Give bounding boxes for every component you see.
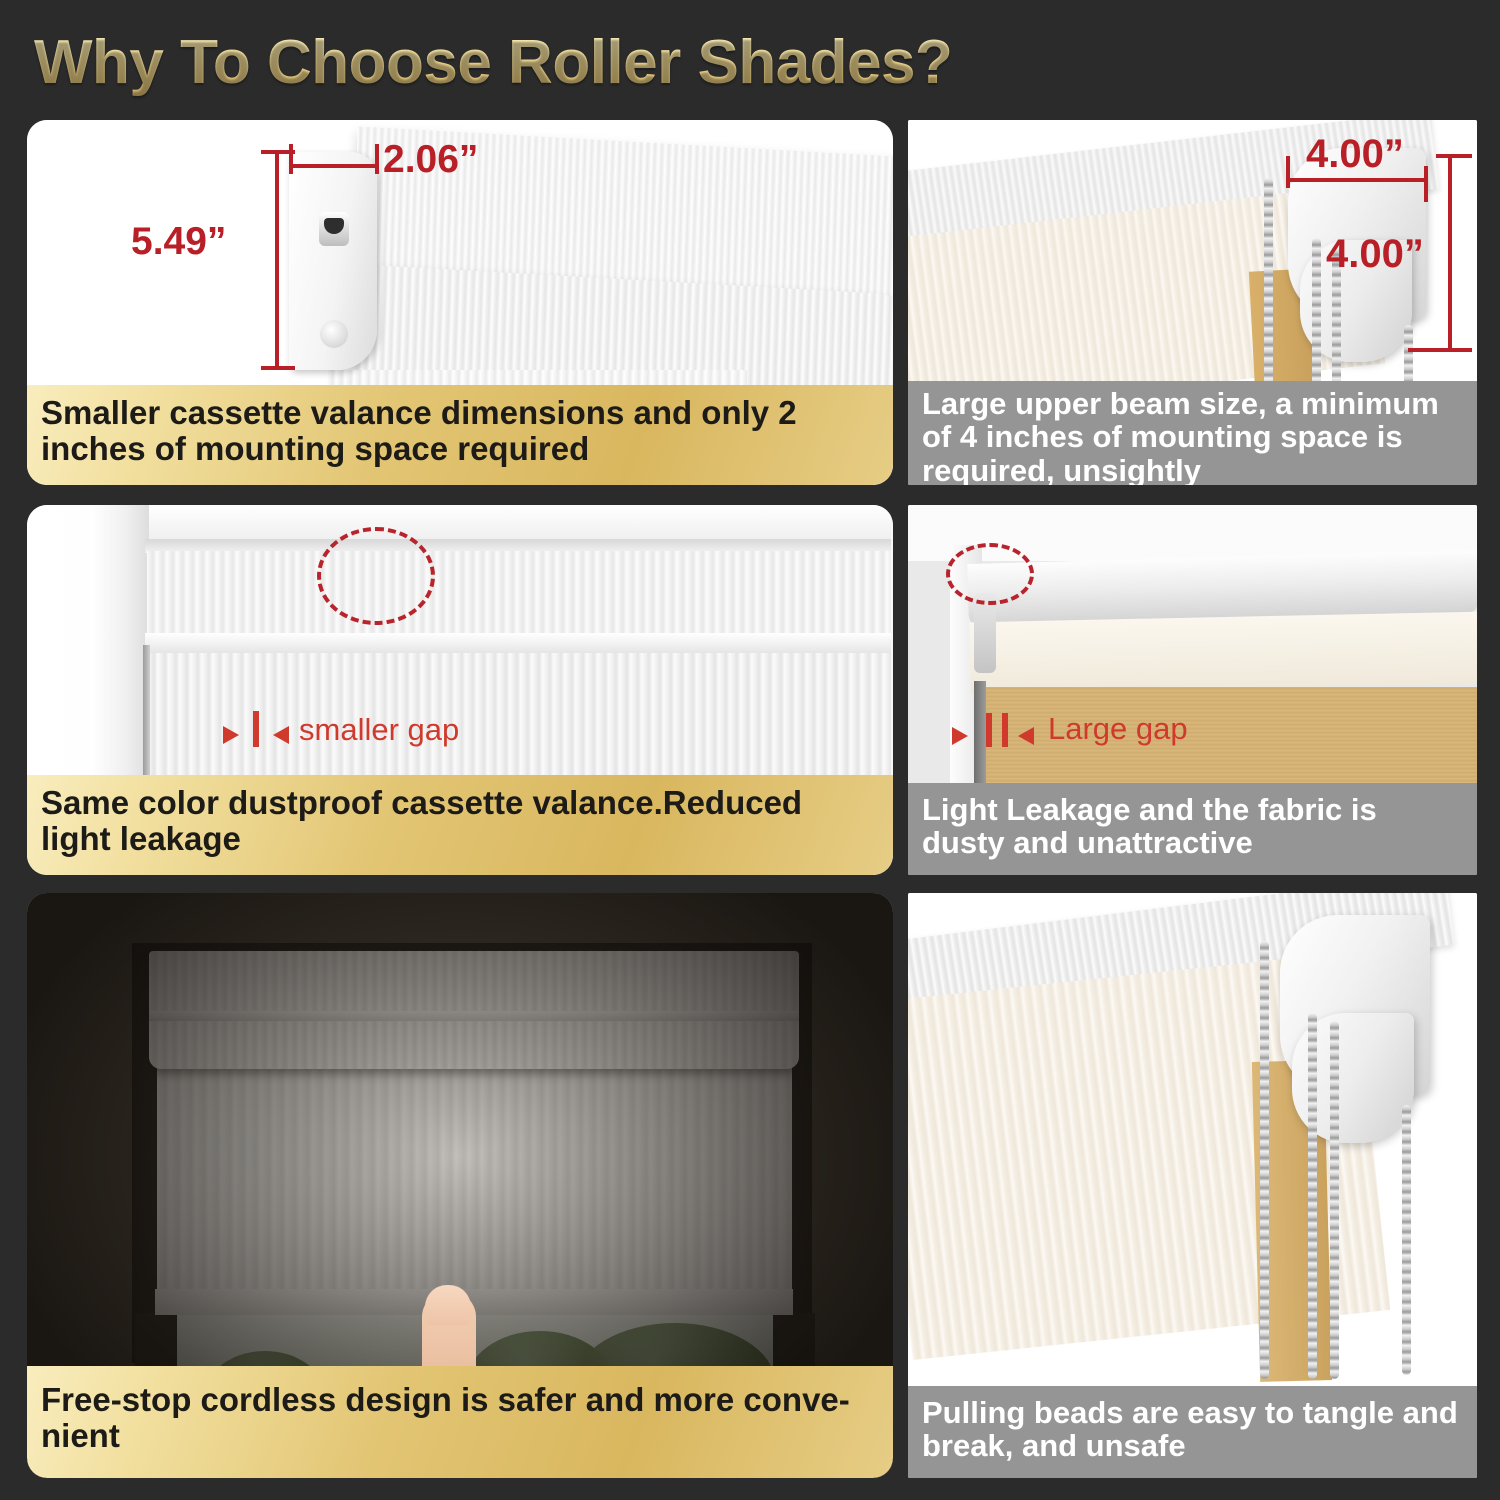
dimension-tick-right [375, 144, 379, 174]
valance-knob [319, 212, 349, 246]
caption-light-leakage: Light Leakage and the fabric is dusty an… [908, 783, 1477, 875]
bead-chain-1 [1260, 941, 1269, 1379]
page-title: Why To Choose Roller Shades? [34, 18, 1074, 106]
highlight-circle-icon [317, 527, 435, 625]
valance-screw [320, 320, 348, 348]
gap-marker-bar-2 [1002, 713, 1008, 747]
panel-smaller-cassette: 2.06” 5.49” Smaller cassette valance dim… [27, 120, 893, 485]
roller-clip [974, 593, 996, 673]
gap-arrow-right-icon [223, 726, 239, 744]
dimension-label-width: 4.00” [1306, 132, 1404, 177]
shade-fabric-cream [969, 612, 1477, 695]
gap-label-large: Large gap [1048, 711, 1188, 747]
panel-pulling-beads: Pulling beads are easy to tangle and bre… [908, 893, 1477, 1478]
edge-gap-line [143, 645, 150, 785]
window-frame-top [91, 505, 891, 543]
panel-large-upper-beam: 4.00” 4.00” Large upper beam size, a min… [908, 120, 1477, 485]
dimension-line-height [275, 152, 279, 370]
dimension-tick-top [1436, 154, 1472, 158]
dimension-tick-left [289, 144, 293, 174]
caption-free-stop-cordless: Free-stop cordless design is safer and m… [27, 1366, 893, 1478]
caption-smaller-cassette: Smaller cassette valance dimensions and … [27, 385, 893, 485]
dimension-label-height: 4.00” [1326, 232, 1424, 277]
dimension-tick-left [1286, 156, 1290, 188]
gap-arrow-right-icon [952, 727, 968, 745]
dimension-tick-bottom [261, 366, 295, 370]
highlight-circle-icon [946, 543, 1034, 605]
dimension-line-width [291, 164, 377, 168]
window-frame-left [91, 505, 149, 805]
dimension-label-width: 2.06” [383, 138, 478, 182]
shade-fabric-upper [147, 551, 891, 639]
shade-mid-rail [145, 633, 891, 655]
gap-arrow-left-icon [273, 726, 289, 744]
dimension-line-width [1288, 178, 1428, 182]
panel-light-leakage: Large gap Light Leakage and the fabric i… [908, 505, 1477, 875]
gap-arrow-left-icon [1018, 727, 1034, 745]
gap-marker-bar [253, 711, 259, 747]
caption-dustproof-cassette: Same color dustproof cassette valance.Re… [27, 775, 893, 875]
dimension-line-height [1448, 156, 1452, 352]
bead-chain-3 [1330, 1021, 1339, 1379]
caption-pulling-beads: Pulling beads are easy to tangle and bre… [908, 1386, 1477, 1478]
dimension-tick-right [1424, 166, 1428, 202]
bead-chain-4 [1402, 1105, 1411, 1375]
hand-fingers [425, 1285, 471, 1325]
dimension-label-height: 5.49” [131, 220, 226, 264]
caption-large-upper-beam: Large upper beam size, a minimum of 4 in… [908, 381, 1477, 485]
edge-gap-dark [974, 681, 986, 795]
panel-free-stop-cordless: Free-stop cordless design is safer and m… [27, 893, 893, 1478]
gap-marker-bar-1 [986, 713, 992, 747]
dimension-tick-top [261, 150, 295, 154]
gap-label-smaller: smaller gap [299, 712, 459, 748]
bead-chain-2 [1308, 1013, 1317, 1379]
dimension-tick-bottom [1408, 348, 1472, 352]
page-title-text: Why To Choose Roller Shades? [34, 27, 952, 98]
panel-dustproof-cassette: smaller gap Same color dustproof cassett… [27, 505, 893, 875]
